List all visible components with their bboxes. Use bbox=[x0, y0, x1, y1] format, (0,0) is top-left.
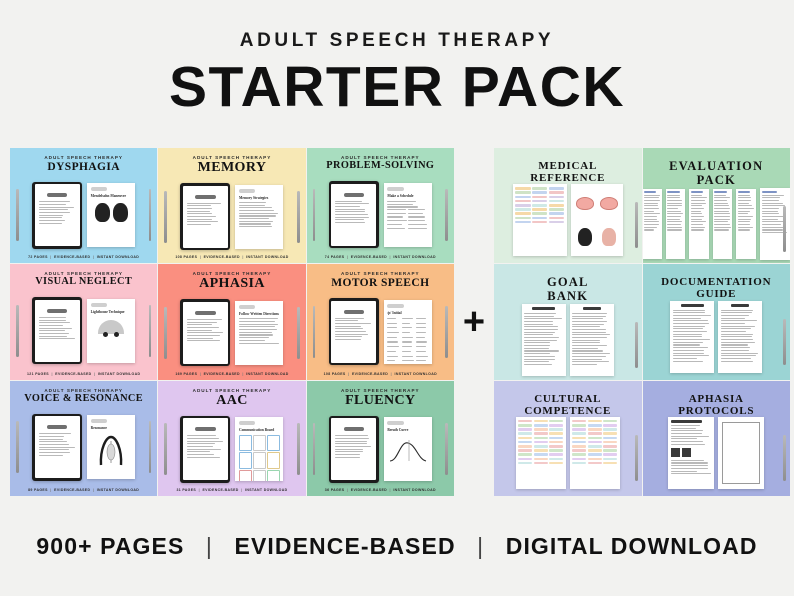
stylus-icon bbox=[313, 423, 316, 475]
bundle-panel[interactable]: DOCUMENTATION GUIDE bbox=[643, 264, 791, 379]
card-sep-1: | bbox=[50, 255, 51, 259]
card-badge-evidence: EVIDENCE-BASED bbox=[54, 255, 90, 259]
card-badge-download: INSTANT DOWNLOAD bbox=[246, 255, 288, 259]
card-mockups: Memory Strategies bbox=[158, 178, 305, 256]
card-footer: 169 PAGES|EVIDENCE-BASED|INSTANT DOWNLOA… bbox=[158, 372, 305, 380]
card-mockups: Breath Curve bbox=[307, 410, 454, 488]
tablet-mockup bbox=[180, 416, 230, 483]
stylus-icon bbox=[783, 206, 786, 252]
stylus-icon bbox=[445, 189, 448, 241]
banner-evidence: EVIDENCE-BASED bbox=[235, 533, 456, 559]
card-badge-download: INSTANT DOWNLOAD bbox=[97, 255, 139, 259]
card-title: MEMORY bbox=[198, 161, 267, 176]
card-mockups: Communication Board bbox=[158, 410, 305, 488]
stylus-icon bbox=[635, 322, 638, 368]
card-title: VISUAL NEGLECT bbox=[35, 277, 132, 288]
card-badge-evidence: EVIDENCE-BASED bbox=[54, 488, 90, 492]
bundle-mockups bbox=[494, 184, 642, 263]
bundle-mockups bbox=[494, 304, 642, 380]
bundle-title: MEDICAL REFERENCE bbox=[530, 160, 605, 184]
card-pages: 74 PAGES bbox=[325, 255, 345, 259]
plus-icon: + bbox=[463, 303, 485, 341]
card-pages: 108 PAGES bbox=[175, 255, 197, 259]
card-sep-2: | bbox=[93, 488, 94, 492]
tablet-mockup bbox=[180, 183, 230, 250]
poster-header: ADULT SPEECH THERAPY STARTER PACK bbox=[0, 0, 794, 116]
card-sep-2: | bbox=[94, 372, 95, 376]
bundle-panel[interactable]: GOAL BANK bbox=[494, 264, 642, 379]
product-card[interactable]: ADULT SPEECH THERAPYAACCommunication Boa… bbox=[158, 381, 305, 496]
worksheet-title: Memory Strategies bbox=[239, 196, 280, 200]
bundle-title: EVALUATION PACK bbox=[669, 160, 763, 188]
tablet-mockup bbox=[180, 299, 230, 366]
stylus-icon bbox=[164, 423, 167, 475]
card-sep-1: | bbox=[347, 255, 348, 259]
card-title: FLUENCY bbox=[345, 394, 415, 409]
tablet-mockup bbox=[32, 297, 82, 364]
stylus-icon bbox=[149, 305, 152, 357]
card-title: PROBLEM-SOLVING bbox=[326, 161, 434, 172]
card-mockups: Resonance bbox=[10, 406, 157, 488]
stylus-icon bbox=[783, 435, 786, 481]
card-sep-1: | bbox=[200, 255, 201, 259]
worksheet-mockup: Follow Written Directions bbox=[235, 301, 283, 365]
card-pages: 169 PAGES bbox=[175, 372, 197, 376]
card-badge-download: INSTANT DOWNLOAD bbox=[393, 488, 435, 492]
stylus-icon bbox=[783, 319, 786, 365]
card-title: MOTOR SPEECH bbox=[331, 277, 429, 289]
card-badge-evidence: EVIDENCE-BASED bbox=[351, 255, 387, 259]
tablet-mockup bbox=[32, 414, 82, 481]
card-badge-download: INSTANT DOWNLOAD bbox=[395, 372, 437, 376]
bundle-title: DOCUMENTATION GUIDE bbox=[661, 276, 771, 300]
stylus-icon bbox=[313, 306, 316, 358]
main-content: ADULT SPEECH THERAPYDYSPHAGIAMendelsohn … bbox=[0, 148, 794, 496]
tablet-screen bbox=[331, 418, 376, 480]
tablet-mockup bbox=[32, 182, 82, 249]
bundle-panel[interactable]: APHASIA PROTOCOLS bbox=[643, 381, 791, 496]
product-card[interactable]: ADULT SPEECH THERAPYVOICE & RESONANCERes… bbox=[10, 381, 157, 496]
card-badge-evidence: EVIDENCE-BASED bbox=[204, 372, 240, 376]
card-footer: 74 PAGES|EVIDENCE-BASED|INSTANT DOWNLOAD bbox=[307, 255, 454, 263]
product-card[interactable]: ADULT SPEECH THERAPYMEMORYMemory Strateg… bbox=[158, 148, 305, 263]
stylus-icon bbox=[164, 191, 167, 243]
card-sep-2: | bbox=[93, 255, 94, 259]
bundle-mockups bbox=[643, 417, 791, 496]
card-sep-2: | bbox=[241, 488, 242, 492]
stylus-icon bbox=[445, 306, 448, 358]
card-badge-download: INSTANT DOWNLOAD bbox=[98, 372, 140, 376]
tablet-screen bbox=[35, 300, 80, 362]
tablet-screen bbox=[35, 184, 80, 246]
card-sep-2: | bbox=[242, 255, 243, 259]
stylus-icon bbox=[164, 307, 167, 359]
card-pages: 72 PAGES bbox=[28, 255, 48, 259]
card-badge-evidence: EVIDENCE-BASED bbox=[352, 372, 388, 376]
header-eyebrow: ADULT SPEECH THERAPY bbox=[0, 30, 794, 52]
banner-text: 900+ PAGES | EVIDENCE-BASED | DIGITAL DO… bbox=[36, 533, 757, 560]
poster-canvas: ADULT SPEECH THERAPY STARTER PACK ADULT … bbox=[0, 0, 794, 596]
worksheet-mockup: Breath Curve bbox=[384, 417, 432, 481]
worksheet-mockup: Make a Schedule bbox=[384, 183, 432, 247]
card-eyebrow: ADULT SPEECH THERAPY bbox=[341, 388, 420, 393]
stylus-icon bbox=[149, 421, 152, 473]
tablet-screen bbox=[331, 301, 376, 363]
page-title: STARTER PACK bbox=[0, 58, 794, 116]
product-card[interactable]: ADULT SPEECH THERAPYAPHASIAFollow Writte… bbox=[158, 264, 305, 379]
card-mockups: /p/ Initial bbox=[307, 291, 454, 371]
banner-pages: 900+ PAGES bbox=[36, 533, 184, 559]
banner-sep-1: | bbox=[206, 533, 213, 559]
product-card[interactable]: ADULT SPEECH THERAPYVISUAL NEGLECTLighth… bbox=[10, 264, 157, 379]
stylus-icon bbox=[16, 189, 19, 241]
card-title: AAC bbox=[216, 394, 248, 409]
card-title: DYSPHAGIA bbox=[47, 161, 120, 173]
card-footer: 121 PAGES|EVIDENCE-BASED|INSTANT DOWNLOA… bbox=[10, 372, 157, 380]
worksheet-title: Resonance bbox=[91, 426, 132, 430]
card-title: VOICE & RESONANCE bbox=[24, 394, 143, 405]
card-title: APHASIA bbox=[199, 277, 265, 292]
card-pages: 89 PAGES bbox=[28, 488, 48, 492]
card-eyebrow: ADULT SPEECH THERAPY bbox=[341, 271, 420, 276]
card-mockups: Mendelsohn Maneuver bbox=[10, 175, 157, 255]
stylus-icon bbox=[445, 423, 448, 475]
card-pages: 36 PAGES bbox=[325, 488, 345, 492]
card-badge-download: INSTANT DOWNLOAD bbox=[97, 488, 139, 492]
bundle-mockups bbox=[643, 188, 791, 264]
card-badge-download: INSTANT DOWNLOAD bbox=[246, 372, 288, 376]
card-eyebrow: ADULT SPEECH THERAPY bbox=[44, 388, 123, 393]
stylus-icon bbox=[297, 307, 300, 359]
worksheet-title: Mendelsohn Maneuver bbox=[91, 194, 132, 198]
card-sep-1: | bbox=[50, 488, 51, 492]
bundle-title: APHASIA PROTOCOLS bbox=[678, 393, 754, 417]
worksheet-mockup: Mendelsohn Maneuver bbox=[87, 183, 135, 247]
bundle-panel[interactable]: EVALUATION PACK bbox=[643, 148, 791, 263]
product-grid: ADULT SPEECH THERAPYDYSPHAGIAMendelsohn … bbox=[10, 148, 454, 496]
card-mockups: Lighthouse Technique bbox=[10, 290, 157, 372]
stylus-icon bbox=[149, 189, 152, 241]
stylus-icon bbox=[297, 191, 300, 243]
card-sep-2: | bbox=[391, 372, 392, 376]
worksheet-mockup: Resonance bbox=[87, 415, 135, 479]
card-badge-evidence: EVIDENCE-BASED bbox=[202, 488, 238, 492]
card-pages: 108 PAGES bbox=[324, 372, 346, 376]
worksheet-mockup: Lighthouse Technique bbox=[87, 299, 135, 363]
worksheet-title: Breath Curve bbox=[387, 428, 428, 432]
tablet-screen bbox=[183, 418, 228, 480]
bundle-panel[interactable]: MEDICAL REFERENCE bbox=[494, 148, 642, 263]
card-badge-download: INSTANT DOWNLOAD bbox=[245, 488, 287, 492]
plus-separator: + bbox=[454, 148, 494, 496]
card-sep-2: | bbox=[390, 488, 391, 492]
card-mockups: Follow Written Directions bbox=[158, 294, 305, 372]
worksheet-title: Communication Board bbox=[239, 428, 280, 432]
bundle-mockups bbox=[494, 417, 642, 496]
card-sep-1: | bbox=[199, 488, 200, 492]
card-eyebrow: ADULT SPEECH THERAPY bbox=[193, 388, 272, 393]
tablet-mockup bbox=[329, 298, 379, 365]
card-sep-2: | bbox=[390, 255, 391, 259]
card-mockups: Make a Schedule bbox=[307, 174, 454, 256]
worksheet-mockup: /p/ Initial bbox=[384, 300, 432, 364]
card-footer: 108 PAGES|EVIDENCE-BASED|INSTANT DOWNLOA… bbox=[158, 255, 305, 263]
tablet-screen bbox=[183, 302, 228, 364]
stylus-icon bbox=[635, 435, 638, 481]
product-card[interactable]: ADULT SPEECH THERAPYFLUENCYBreath Curve3… bbox=[307, 381, 454, 496]
stylus-icon bbox=[297, 423, 300, 475]
card-sep-1: | bbox=[348, 372, 349, 376]
worksheet-title: Make a Schedule bbox=[387, 194, 428, 198]
worksheet-title: Follow Written Directions bbox=[239, 312, 280, 316]
tablet-screen bbox=[183, 186, 228, 248]
bundle-title: GOAL BANK bbox=[547, 276, 589, 304]
worksheet-mockup: Memory Strategies bbox=[235, 185, 283, 249]
card-badge-evidence: EVIDENCE-BASED bbox=[55, 372, 91, 376]
card-sep-1: | bbox=[347, 488, 348, 492]
product-card[interactable]: ADULT SPEECH THERAPYDYSPHAGIAMendelsohn … bbox=[10, 148, 157, 263]
card-footer: 108 PAGES|EVIDENCE-BASED|INSTANT DOWNLOA… bbox=[307, 372, 454, 380]
worksheet-title: Lighthouse Technique bbox=[91, 310, 132, 314]
card-sep-1: | bbox=[200, 372, 201, 376]
bundle-title: CULTURAL COMPETENCE bbox=[524, 393, 611, 417]
card-footer: 36 PAGES|EVIDENCE-BASED|INSTANT DOWNLOAD bbox=[307, 488, 454, 496]
card-badge-evidence: EVIDENCE-BASED bbox=[351, 488, 387, 492]
worksheet-title: /p/ Initial bbox=[387, 311, 428, 315]
card-sep-1: | bbox=[51, 372, 52, 376]
card-pages: 31 PAGES bbox=[176, 488, 196, 492]
bundle-panel[interactable]: CULTURAL COMPETENCE bbox=[494, 381, 642, 496]
card-footer: 31 PAGES|EVIDENCE-BASED|INSTANT DOWNLOAD bbox=[158, 488, 305, 496]
tablet-screen bbox=[35, 416, 80, 478]
stylus-icon bbox=[313, 189, 316, 241]
bundle-mockups bbox=[643, 301, 791, 380]
stylus-icon bbox=[635, 202, 638, 248]
feature-banner: 900+ PAGES | EVIDENCE-BASED | DIGITAL DO… bbox=[0, 496, 794, 596]
tablet-mockup bbox=[329, 416, 379, 483]
product-card[interactable]: ADULT SPEECH THERAPYPROBLEM-SOLVINGMake … bbox=[307, 148, 454, 263]
card-footer: 89 PAGES|EVIDENCE-BASED|INSTANT DOWNLOAD bbox=[10, 488, 157, 496]
card-badge-download: INSTANT DOWNLOAD bbox=[393, 255, 435, 259]
worksheet-mockup: Communication Board bbox=[235, 417, 283, 481]
stylus-icon bbox=[16, 421, 19, 473]
stylus-icon bbox=[16, 305, 19, 357]
card-sep-2: | bbox=[242, 372, 243, 376]
bundle-grid: MEDICAL REFERENCEEVALUATION PACKGOAL BAN… bbox=[494, 148, 790, 496]
card-footer: 72 PAGES|EVIDENCE-BASED|INSTANT DOWNLOAD bbox=[10, 255, 157, 263]
tablet-mockup bbox=[329, 181, 379, 248]
product-card[interactable]: ADULT SPEECH THERAPYMOTOR SPEECH/p/ Init… bbox=[307, 264, 454, 379]
banner-sep-2: | bbox=[477, 533, 484, 559]
card-pages: 121 PAGES bbox=[27, 372, 49, 376]
card-badge-evidence: EVIDENCE-BASED bbox=[204, 255, 240, 259]
card-eyebrow: ADULT SPEECH THERAPY bbox=[44, 155, 123, 160]
banner-download: DIGITAL DOWNLOAD bbox=[506, 533, 758, 559]
tablet-screen bbox=[331, 184, 376, 246]
